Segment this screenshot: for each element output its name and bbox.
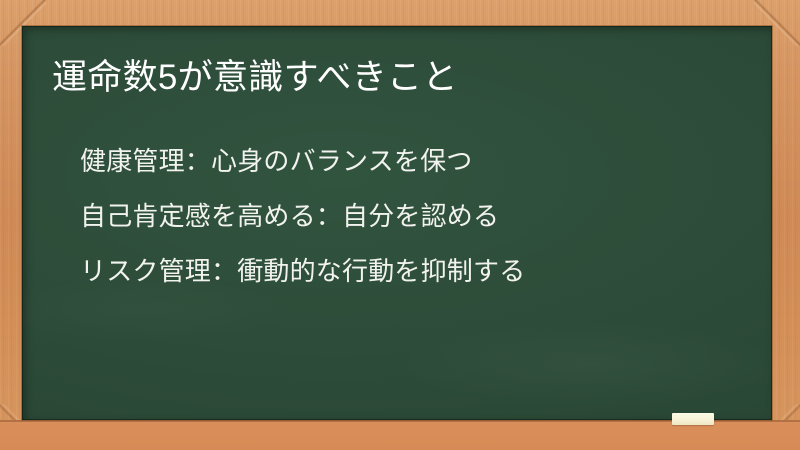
- bullet-list: 健康管理：心身のバランスを保つ 自己肯定感を高める：自分を認める リスク管理：衝…: [80, 134, 760, 299]
- bullet-item: リスク管理：衝動的な行動を抑制する: [80, 244, 760, 299]
- slide-title: 運命数5が意識すべきこと: [52, 56, 752, 100]
- bullet-item: 自己肯定感を高める：自分を認める: [80, 189, 760, 244]
- blackboard-surface: 運命数5が意識すべきこと 健康管理：心身のバランスを保つ 自己肯定感を高める：自…: [22, 26, 772, 420]
- bullet-item: 健康管理：心身のバランスを保つ: [80, 134, 760, 189]
- chalk-icon: [672, 413, 714, 425]
- blackboard-slide: 運命数5が意識すべきこと 健康管理：心身のバランスを保つ 自己肯定感を高める：自…: [0, 0, 800, 450]
